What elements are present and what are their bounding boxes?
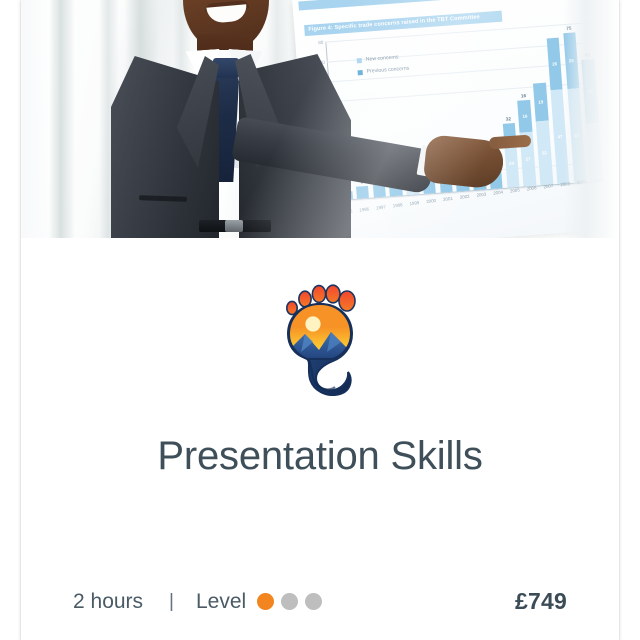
footprint-sunset-logo-icon (283, 280, 357, 396)
level-indicator (257, 593, 322, 610)
x-tick-label: 2005 (507, 187, 522, 194)
course-meta-left: 2 hours | Level (73, 590, 322, 614)
page-root: Figure 4: Specific trade concerns raised… (0, 0, 640, 640)
level-label: Level (196, 590, 246, 614)
bar-segment-new: 16 (517, 100, 532, 133)
course-duration: 2 hours (73, 590, 143, 614)
bar-column: 6 (355, 186, 371, 199)
bar-total-label: 32 (501, 116, 516, 122)
course-card[interactable]: Figure 4: Specific trade concerns raised… (21, 0, 619, 640)
x-tick-label: 1998 (390, 202, 405, 209)
bar-segment-new: 19 (533, 83, 548, 122)
x-tick-label: 2004 (490, 189, 505, 196)
x-tick-label: 2007 (541, 183, 556, 190)
x-tick-label: 2002 (457, 193, 472, 200)
course-meta-row: 2 hours | Level £749 (21, 588, 619, 615)
course-title: Presentation Skills (21, 434, 619, 479)
bar-segment-value: 19 (534, 99, 547, 105)
bar-segment-previous: 32 (536, 121, 553, 186)
x-tick-label: 2001 (440, 196, 455, 203)
level-dot-empty (281, 593, 298, 610)
level-dot-empty (305, 593, 322, 610)
photo-left-vignette (21, 0, 51, 238)
brand-logo-wrap (21, 280, 619, 396)
bar-segment-value: 32 (538, 150, 551, 156)
legend-swatch-icon (357, 58, 362, 63)
bar-segment-value: 26 (548, 61, 561, 67)
bar-total-label: 16 (516, 93, 531, 99)
x-tick-label: 1997 (373, 204, 388, 211)
presenter-person (79, 0, 349, 238)
x-tick-label: 1999 (407, 200, 422, 207)
course-hero-image: Figure 4: Specific trade concerns raised… (21, 0, 619, 238)
x-tick-label: 2003 (474, 191, 489, 198)
bar-segment-value: 16 (518, 113, 531, 119)
chart-legend: New concerns Previous concerns (357, 54, 410, 82)
curtain-fold (49, 0, 75, 238)
legend-label: New concerns (366, 54, 399, 62)
card-body: Presentation Skills 2 hours | Level £749 (21, 238, 619, 640)
bar-segment-value: 27 (522, 156, 535, 162)
bar-segment-new (356, 186, 370, 199)
legend-label: Previous concerns (366, 66, 409, 75)
level-dot-filled (257, 593, 274, 610)
x-tick-label: 1996 (357, 206, 372, 213)
bar-segment-value: 24 (505, 160, 518, 166)
belt-buckle (225, 220, 243, 232)
photo-right-vignette (563, 0, 619, 238)
legend-item-previous: Previous concerns (357, 66, 409, 76)
meta-separator: | (169, 591, 174, 613)
x-tick-label: 2000 (423, 198, 438, 205)
x-tick-label: 2006 (524, 185, 539, 192)
bar-segment-new: 26 (546, 38, 562, 91)
course-price: £749 (515, 588, 567, 615)
legend-swatch-icon (357, 70, 362, 75)
